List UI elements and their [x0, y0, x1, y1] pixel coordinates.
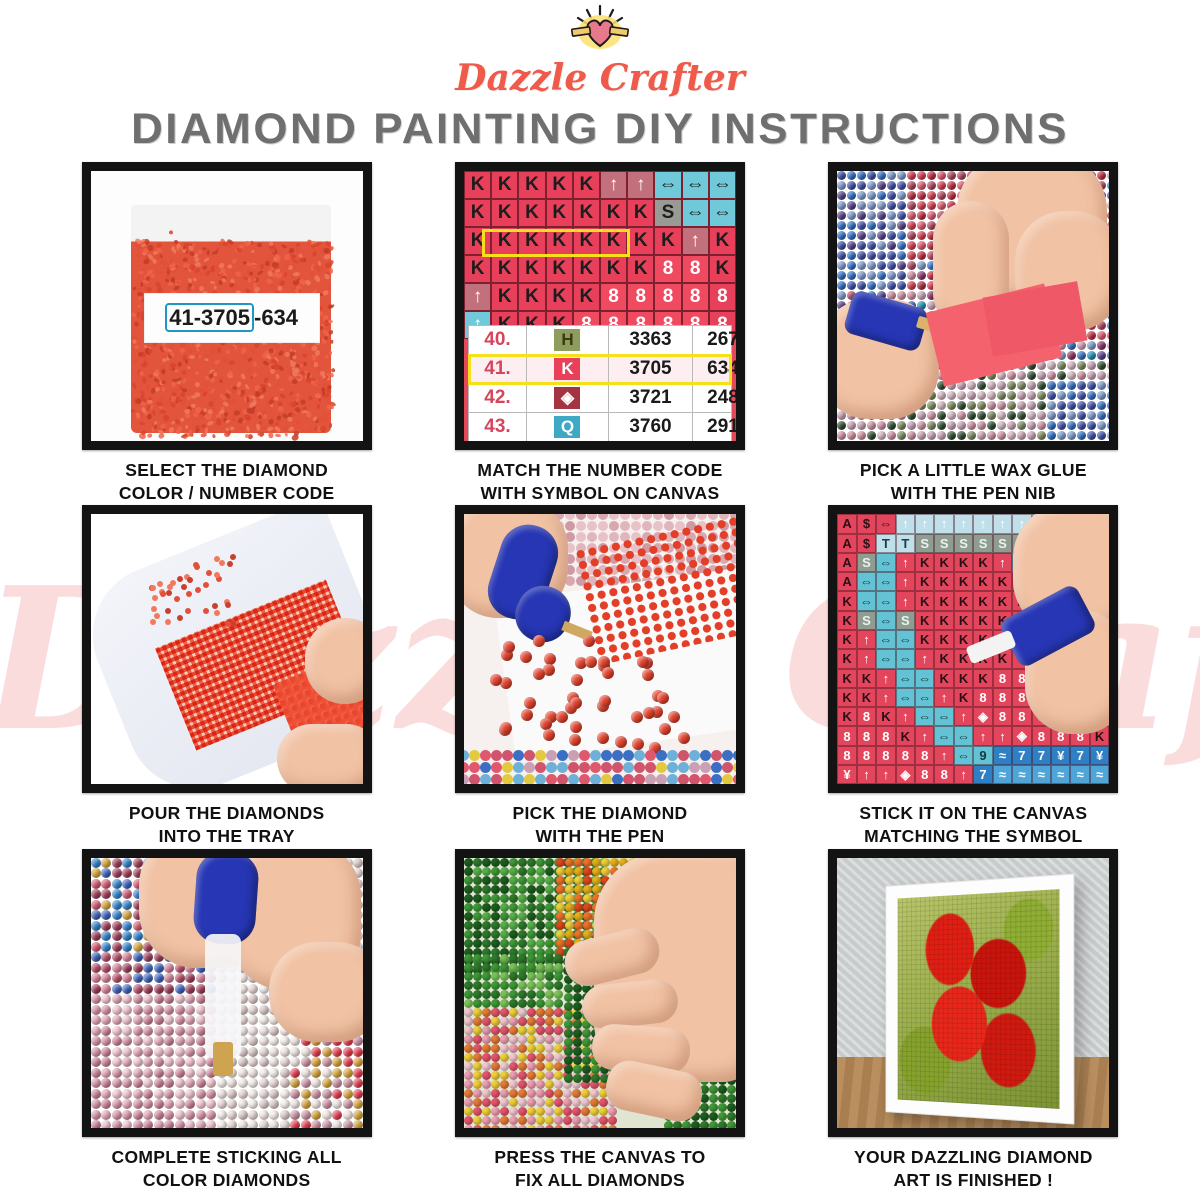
step-card-3: PICK A LITTLE WAX GLUE WITH THE PEN NIB	[787, 162, 1160, 505]
symbol-cell: K	[857, 669, 876, 688]
symbol-cell: ≈	[993, 746, 1012, 765]
chart-cell: ⇔	[709, 171, 736, 199]
chart-cell: K	[491, 283, 518, 311]
canvas-symbol-chart: KKKKK↑↑⇔⇔⇔KKKKKKKS⇔⇔KKKKKKKK↑KKKKKKKK88K…	[464, 171, 736, 343]
bag-of-diamonds-image: 41-3705-634	[91, 171, 363, 441]
symbol-cell: ⇔	[857, 591, 876, 610]
symbol-cell: ⇔	[857, 572, 876, 591]
symbol-cell: K	[934, 611, 953, 630]
symbol-cell: A	[837, 553, 856, 572]
chart-cell: K	[573, 227, 600, 255]
symbol-cell: K	[954, 591, 973, 610]
chart-cell: K	[518, 283, 545, 311]
symbol-cell: ↑	[896, 591, 915, 610]
symbol-cell: ↑	[954, 707, 973, 726]
bag-label: 41-3705-634	[144, 293, 320, 343]
legend-symbol-cell: H	[527, 326, 609, 354]
symbol-cell: ↑	[876, 765, 895, 784]
symbol-cell: ≈	[1051, 765, 1070, 784]
steps-grid: 41-3705-634 SELECT THE DIAMOND COLOR / N…	[40, 162, 1160, 1192]
label-code-highlighted: 41-3705	[165, 303, 254, 332]
step-caption-9: YOUR DAZZLING DIAMOND ART IS FINISHED !	[854, 1146, 1093, 1192]
symbol-cell: S	[993, 534, 1012, 553]
symbol-cell: ⇔	[876, 591, 895, 610]
chart-cell: K	[491, 199, 518, 227]
chart-cell: K	[546, 255, 573, 283]
symbol-cell: K	[973, 669, 992, 688]
symbol-cell: ≈	[1012, 765, 1031, 784]
symbol-cell: S	[973, 534, 992, 553]
legend-row: 40.H3363267	[469, 326, 731, 355]
chart-cell: S	[654, 199, 681, 227]
step-card-6: A$⇔↑↑↑↑↑↑↑↑↑KKA$TTSSSSSS⇔⇔SKAS⇔↑KKKK↑⇔⇔⇔…	[787, 505, 1160, 848]
symbol-cell: K	[896, 726, 915, 745]
legend-symbol-swatch: ◈	[554, 387, 580, 409]
step-caption-5: PICK THE DIAMOND WITH THE PEN	[513, 802, 688, 848]
chart-cell: K	[573, 255, 600, 283]
legend-row-number: 42.	[469, 384, 527, 412]
symbol-cell: ⇔	[896, 669, 915, 688]
symbol-cell: ⇔	[896, 649, 915, 668]
legend-count: 291	[693, 413, 736, 441]
symbol-cell: $	[857, 514, 876, 533]
symbol-cell: ↑	[954, 514, 973, 533]
step-caption-7: COMPLETE STICKING ALL COLOR DIAMONDS	[112, 1146, 342, 1192]
symbol-cell: K	[973, 611, 992, 630]
symbol-cell: K	[915, 591, 934, 610]
symbol-cell: 8	[857, 707, 876, 726]
legend-symbol-cell: Q	[527, 413, 609, 441]
chart-cell: K	[491, 255, 518, 283]
symbol-cell: A	[837, 514, 856, 533]
symbol-cell: ↑	[973, 514, 992, 533]
chart-cell: ↑	[600, 171, 627, 199]
chart-cell: K	[627, 255, 654, 283]
symbol-cell: 8	[857, 746, 876, 765]
chart-cell: 8	[627, 283, 654, 311]
symbol-cell: K	[857, 688, 876, 707]
legend-row: 41.K3705634	[469, 355, 731, 384]
symbol-cell: ◈	[1012, 726, 1031, 745]
symbol-cell: ⇔	[915, 669, 934, 688]
step-photo-4	[82, 505, 372, 793]
symbol-cell: ↑	[915, 514, 934, 533]
symbol-cell: K	[973, 591, 992, 610]
symbol-cell: S	[857, 611, 876, 630]
symbol-cell: ¥	[1051, 746, 1070, 765]
symbol-cell: ¥	[1090, 746, 1109, 765]
chart-cell: K	[518, 171, 545, 199]
chart-cell: K	[464, 199, 491, 227]
chart-cell: K	[654, 227, 681, 255]
symbol-cell: T	[876, 534, 895, 553]
symbol-cell: K	[837, 669, 856, 688]
symbol-cell: 8	[993, 669, 1012, 688]
chart-cell: K	[464, 171, 491, 199]
symbol-cell: 8	[837, 746, 856, 765]
symbol-cell: K	[915, 572, 934, 591]
legend-dmc-code: 3705	[609, 355, 693, 383]
chart-cell: 8	[600, 283, 627, 311]
legend-count: 248	[693, 384, 736, 412]
symbol-cell: 8	[876, 746, 895, 765]
symbol-cell: ↑	[934, 688, 953, 707]
legend-dmc-code: 3721	[609, 384, 693, 412]
symbol-cell: ⇔	[934, 726, 953, 745]
step-photo-9	[828, 849, 1118, 1137]
symbol-cell: K	[934, 553, 953, 572]
symbol-cell: K	[954, 669, 973, 688]
heart-with-pencil-sunburst-icon	[560, 4, 640, 54]
symbol-cell: 8	[837, 726, 856, 745]
symbol-cell: K	[993, 572, 1012, 591]
symbol-cell: 8	[1032, 726, 1051, 745]
legend-count: 267	[693, 326, 736, 354]
symbol-cell: K	[915, 630, 934, 649]
symbol-cell: K	[837, 649, 856, 668]
symbol-cell: K	[954, 572, 973, 591]
symbol-cell: ↑	[896, 572, 915, 591]
symbol-cell: K	[837, 611, 856, 630]
poster-header: Dazzle Crafter DIAMOND PAINTING DIY INST…	[0, 0, 1200, 154]
symbol-cell: T	[896, 534, 915, 553]
chart-cell: K	[546, 171, 573, 199]
stick-on-canvas-symbol-grid-image: A$⇔↑↑↑↑↑↑↑↑↑KKA$TTSSSSSS⇔⇔SKAS⇔↑KKKK↑⇔⇔⇔…	[837, 514, 1109, 784]
symbol-cell: S	[896, 611, 915, 630]
symbol-cell: A	[837, 572, 856, 591]
symbol-cell: 9	[973, 746, 992, 765]
symbol-cell: ↑	[896, 553, 915, 572]
brand-name: Dazzle Crafter	[0, 57, 1200, 99]
pour-diamonds-tray-image	[91, 514, 363, 784]
chart-cell: K	[491, 227, 518, 255]
step-card-4: POUR THE DIAMONDS INTO THE TRAY	[40, 505, 413, 848]
symbol-cell: K	[934, 591, 953, 610]
legend-row-number: 43.	[469, 413, 527, 441]
symbol-cell: ↑	[876, 688, 895, 707]
symbol-cell: ⇔	[876, 514, 895, 533]
symbol-cell: 8	[993, 707, 1012, 726]
chart-cell: 8	[654, 255, 681, 283]
chart-cell: K	[600, 227, 627, 255]
step-caption-3: PICK A LITTLE WAX GLUE WITH THE PEN NIB	[860, 459, 1087, 505]
symbol-cell: 8	[876, 726, 895, 745]
symbol-cell: ≈	[993, 765, 1012, 784]
symbol-cell: K	[837, 591, 856, 610]
chart-cell: K	[546, 283, 573, 311]
legend-count: 634	[693, 355, 736, 383]
symbol-cell: ⇔	[915, 707, 934, 726]
legend-symbol-swatch: H	[554, 329, 580, 351]
finished-framed-art-image	[837, 858, 1109, 1128]
legend-symbol-swatch: K	[554, 358, 580, 380]
symbol-cell: ⇔	[954, 746, 973, 765]
step-card-8: PRESS THE CANVAS TO FIX ALL DIAMONDS	[413, 849, 786, 1192]
chart-cell: 8	[682, 255, 709, 283]
symbol-cell: ⇔	[954, 726, 973, 745]
legend-row: 42.◈3721248	[469, 384, 731, 413]
label-code-suffix: -634	[254, 305, 298, 330]
symbol-cell: 8	[896, 746, 915, 765]
chart-cell: K	[573, 199, 600, 227]
chart-cell: K	[627, 199, 654, 227]
step-card-2: KKKKK↑↑⇔⇔⇔KKKKKKKS⇔⇔KKKKKKKK↑KKKKKKKK88K…	[413, 162, 786, 505]
symbol-cell: ≈	[1090, 765, 1109, 784]
symbol-cell: ↑	[993, 553, 1012, 572]
chart-cell: K	[464, 255, 491, 283]
step-photo-1: 41-3705-634	[82, 162, 372, 450]
symbol-cell: 7	[1032, 746, 1051, 765]
symbol-cell: 8	[1012, 707, 1031, 726]
symbol-cell: S	[915, 534, 934, 553]
symbol-cell: 8	[915, 765, 934, 784]
symbol-cell: A	[837, 534, 856, 553]
wax-glue-pickup-image	[837, 171, 1109, 441]
chart-cell: 8	[709, 283, 736, 311]
chart-cell: K	[491, 171, 518, 199]
symbol-cell: ↑	[934, 514, 953, 533]
symbol-cell: ⇔	[915, 688, 934, 707]
symbol-cell: 8	[915, 746, 934, 765]
legend-row-number: 40.	[469, 326, 527, 354]
symbol-cell: K	[915, 611, 934, 630]
symbol-cell: ↑	[993, 726, 1012, 745]
chart-cell: 8	[654, 283, 681, 311]
legend-dmc-code: 3760	[609, 413, 693, 441]
symbol-cell: ↑	[896, 514, 915, 533]
symbol-cell: ↑	[876, 669, 895, 688]
symbol-cell: K	[837, 707, 856, 726]
press-canvas-image	[464, 858, 736, 1128]
chart-cell: K	[600, 199, 627, 227]
symbol-cell: 7	[973, 765, 992, 784]
symbol-cell: 8	[934, 765, 953, 784]
chart-cell: ↑	[682, 227, 709, 255]
symbol-cell: ⇔	[876, 630, 895, 649]
symbol-cell: ↑	[915, 726, 934, 745]
symbol-cell: K	[993, 591, 1012, 610]
step-photo-3	[828, 162, 1118, 450]
step-caption-6: STICK IT ON THE CANVAS MATCHING THE SYMB…	[859, 802, 1087, 848]
symbol-cell: ↑	[857, 765, 876, 784]
symbol-cell: K	[837, 630, 856, 649]
symbol-cell: K	[837, 688, 856, 707]
legend-symbol-cell: ◈	[527, 384, 609, 412]
step-card-5: PICK THE DIAMOND WITH THE PEN	[413, 505, 786, 848]
symbol-cell: K	[876, 707, 895, 726]
chart-cell: K	[627, 227, 654, 255]
chart-cell: ⇔	[682, 199, 709, 227]
legend-symbol-cell: K	[527, 355, 609, 383]
symbol-cell: $	[857, 534, 876, 553]
step-photo-7	[82, 849, 372, 1137]
chart-cell: K	[518, 255, 545, 283]
symbol-cell: 8	[857, 726, 876, 745]
symbol-cell: ↑	[954, 765, 973, 784]
symbol-cell: S	[857, 553, 876, 572]
legend-row: 43.Q3760291	[469, 413, 731, 441]
chart-cell: ↑	[464, 283, 491, 311]
symbol-cell: 7	[1070, 746, 1089, 765]
symbol-cell: ↑	[896, 707, 915, 726]
chart-cell: K	[573, 171, 600, 199]
symbol-cell: 8	[973, 688, 992, 707]
symbol-cell: S	[934, 534, 953, 553]
step-photo-6: A$⇔↑↑↑↑↑↑↑↑↑KKA$TTSSSSSS⇔⇔SKAS⇔↑KKKK↑⇔⇔⇔…	[828, 505, 1118, 793]
symbol-cell: K	[954, 611, 973, 630]
step-photo-8	[455, 849, 745, 1137]
chart-cell: ↑	[627, 171, 654, 199]
symbol-cell: ↑	[973, 726, 992, 745]
chart-cell: ⇔	[682, 171, 709, 199]
pick-diamond-with-pen-image	[464, 514, 736, 784]
symbol-cell: ⇔	[876, 572, 895, 591]
symbol-cell: ⇔	[876, 553, 895, 572]
symbol-cell: ≈	[1032, 765, 1051, 784]
symbol-cell: K	[934, 572, 953, 591]
completed-sticking-image	[91, 858, 363, 1128]
symbol-cell: K	[934, 630, 953, 649]
step-caption-4: POUR THE DIAMONDS INTO THE TRAY	[129, 802, 325, 848]
step-photo-5	[455, 505, 745, 793]
symbol-cell: ⇔	[896, 630, 915, 649]
step-card-9: YOUR DAZZLING DIAMOND ART IS FINISHED !	[787, 849, 1160, 1192]
chart-cell: ⇔	[709, 199, 736, 227]
chart-cell: K	[464, 227, 491, 255]
symbol-cell: 7	[1012, 746, 1031, 765]
symbol-cell: ◈	[973, 707, 992, 726]
step-caption-8: PRESS THE CANVAS TO FIX ALL DIAMONDS	[494, 1146, 705, 1192]
symbol-cell: K	[915, 553, 934, 572]
symbol-cell: ⇔	[876, 611, 895, 630]
symbol-cell: S	[954, 534, 973, 553]
chart-cell: 8	[682, 283, 709, 311]
symbol-cell: ↑	[857, 630, 876, 649]
symbol-cell: ↑	[857, 649, 876, 668]
legend-dmc-code: 3363	[609, 326, 693, 354]
symbol-cell: ↑	[915, 649, 934, 668]
chart-cell: ⇔	[654, 171, 681, 199]
instructions-poster: Dazzle Crafter Dazzle Crafter	[0, 0, 1200, 1200]
symbol-cell: K	[973, 553, 992, 572]
chart-cell: K	[709, 227, 736, 255]
symbol-cell: K	[954, 553, 973, 572]
symbol-cell: ¥	[837, 765, 856, 784]
page-title: DIAMOND PAINTING DIY INSTRUCTIONS	[0, 105, 1200, 154]
step-card-1: 41-3705-634 SELECT THE DIAMOND COLOR / N…	[40, 162, 413, 505]
symbol-cell: ◈	[896, 765, 915, 784]
step-caption-1: SELECT THE DIAMOND COLOR / NUMBER CODE	[119, 459, 335, 505]
chart-cell: K	[573, 283, 600, 311]
legend-symbol-swatch: Q	[554, 416, 580, 438]
symbol-cell: ⇔	[896, 688, 915, 707]
step-photo-2: KKKKK↑↑⇔⇔⇔KKKKKKKS⇔⇔KKKKKKKK↑KKKKKKKK88K…	[455, 162, 745, 450]
symbol-cell: K	[934, 669, 953, 688]
step-card-7: COMPLETE STICKING ALL COLOR DIAMONDS	[40, 849, 413, 1192]
chart-cell: K	[518, 227, 545, 255]
symbol-cell: K	[954, 688, 973, 707]
symbol-cell: ⇔	[934, 707, 953, 726]
chart-cell: K	[546, 227, 573, 255]
symbol-cell: K	[973, 572, 992, 591]
symbol-cell: ↑	[993, 514, 1012, 533]
chart-cell: K	[600, 255, 627, 283]
color-legend-table: 40.H336326741.K370563442.◈372124843.Q376…	[468, 325, 732, 441]
symbol-cell: ≈	[1070, 765, 1089, 784]
symbol-cell: ⇔	[876, 649, 895, 668]
chart-cell: K	[518, 199, 545, 227]
symbol-cell: ↑	[934, 746, 953, 765]
symbol-cell: K	[934, 649, 953, 668]
legend-row-number: 41.	[469, 355, 527, 383]
canvas-chart-with-legend-image: KKKKK↑↑⇔⇔⇔KKKKKKKS⇔⇔KKKKKKKK↑KKKKKKKK88K…	[464, 171, 736, 441]
chart-cell: K	[546, 199, 573, 227]
step-caption-2: MATCH THE NUMBER CODE WITH SYMBOL ON CAN…	[477, 459, 722, 505]
chart-cell: K	[709, 255, 736, 283]
symbol-cell: 8	[993, 688, 1012, 707]
